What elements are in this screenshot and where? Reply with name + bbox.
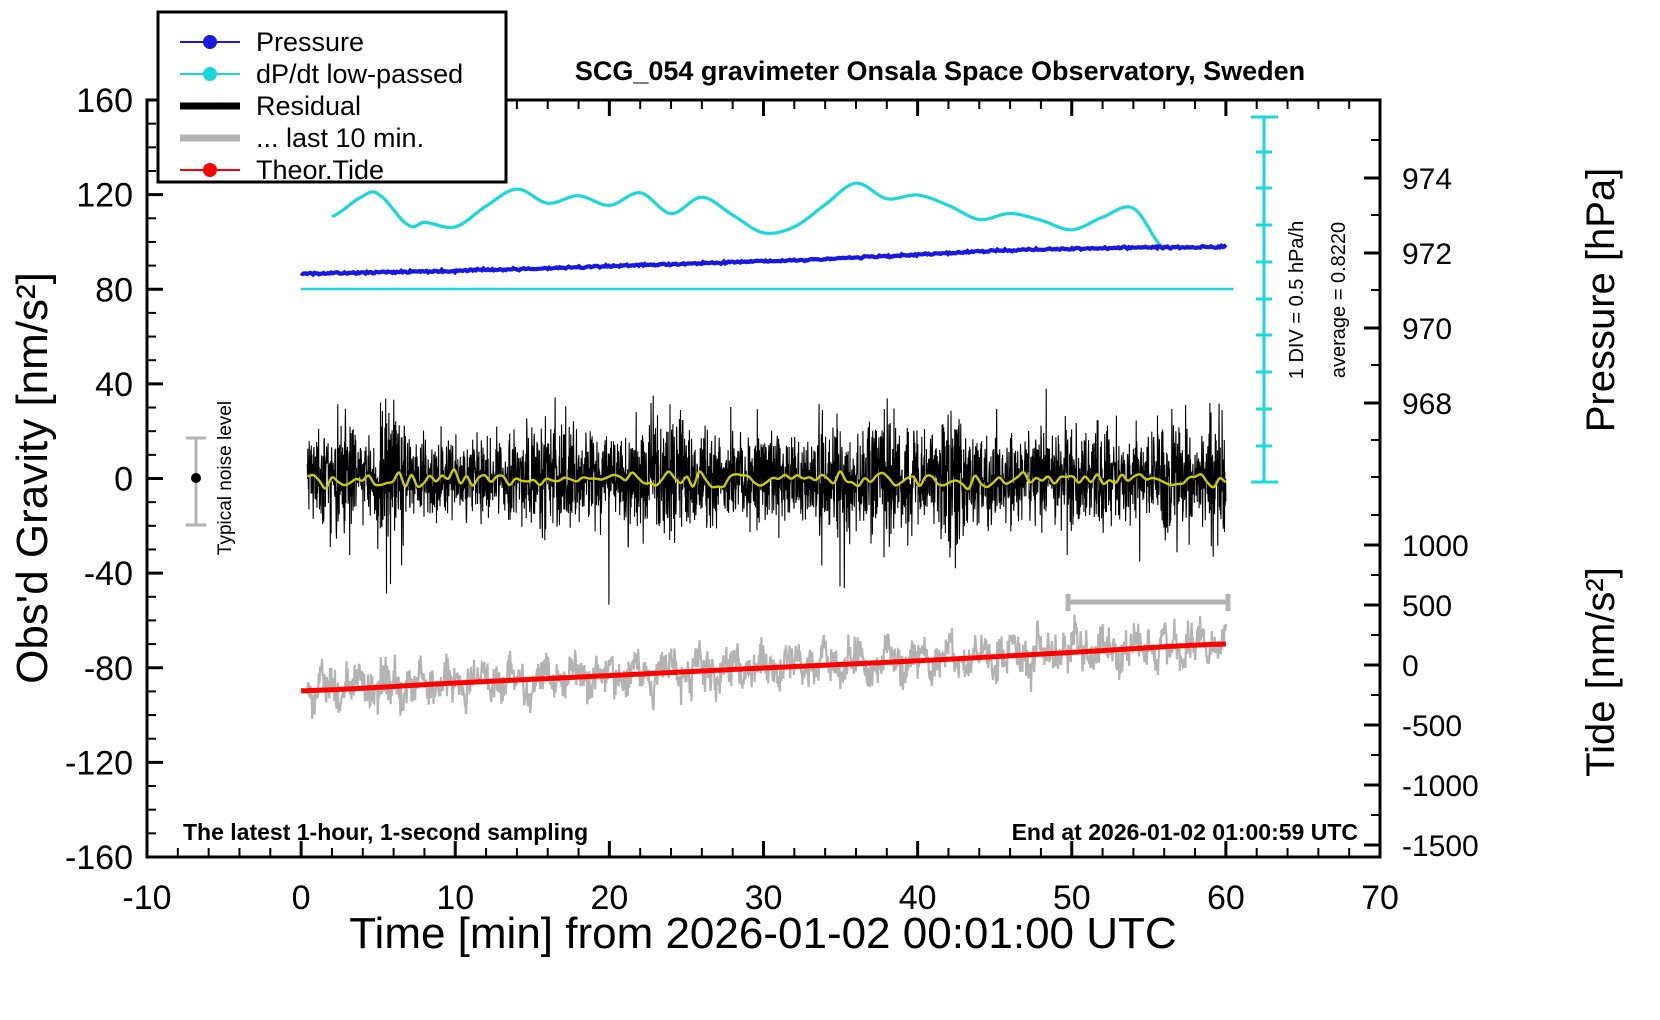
legend-label: dP/dt low-passed	[256, 59, 463, 89]
scale-bar-division-label: 1 DIV = 0.5 hPa/h	[1286, 221, 1308, 379]
y-right-top-tick-label: 968	[1402, 388, 1452, 421]
y-right-bottom-tick-label: -1000	[1402, 770, 1479, 803]
y-right-bottom-tick-label: 1000	[1402, 530, 1469, 563]
x-tick-label: 0	[292, 879, 311, 917]
y-left-tick-label: -40	[84, 555, 133, 593]
chart-canvas: Typical noise level 1 DIV = 0.5 hPa/h av…	[0, 0, 1660, 1020]
y-left-tick-label: 0	[114, 461, 133, 499]
y-left-tick-label: -120	[65, 744, 133, 782]
typical-noise-level-label: Typical noise level	[215, 401, 236, 555]
y-right-top-tick-label: 974	[1402, 163, 1452, 196]
y-left-tick-label: 80	[95, 271, 133, 309]
y-right-bottom-tick-label: 0	[1402, 650, 1419, 683]
y-right-bottom-tick-label: 500	[1402, 590, 1452, 623]
footer-end-timestamp: End at 2026-01-02 01:00:59 UTC	[1012, 819, 1358, 845]
y-left-tick-label: 160	[76, 82, 133, 120]
legend-marker-dot	[203, 67, 217, 81]
scale-bar-average-label: average = 0.8220	[1328, 222, 1350, 378]
legend-box[interactable]: PressuredP/dt low-passedResidual... last…	[158, 12, 506, 185]
x-tick-label: -10	[122, 879, 171, 917]
y-right-bottom-axis-title: Tide [nm/s²]	[1579, 567, 1623, 777]
x-axis-title: Time [min] from 2026-01-02 00:01:00 UTC	[349, 909, 1176, 958]
legend-label: ... last 10 min.	[256, 123, 424, 153]
legend-label: Theor.Tide	[256, 155, 384, 185]
chart-title: SCG_054 gravimeter Onsala Space Observat…	[575, 56, 1305, 86]
y-left-tick-label: -160	[65, 839, 133, 877]
y-right-bottom-tick-label: -500	[1402, 710, 1462, 743]
gravimeter-chart-figure: Typical noise level 1 DIV = 0.5 hPa/h av…	[0, 0, 1660, 1020]
legend-label: Residual	[256, 91, 361, 121]
y-left-tick-label: 40	[95, 366, 133, 404]
footer-sampling-note: The latest 1-hour, 1-second sampling	[183, 819, 588, 845]
legend-label: Pressure	[256, 27, 364, 57]
legend-marker-dot	[203, 163, 217, 177]
y-left-axis-title: Obs'd Gravity [nm/s²]	[8, 272, 57, 684]
x-tick-label: 70	[1361, 879, 1399, 917]
y-left-tick-label: 120	[76, 177, 133, 215]
legend-marker-dot	[203, 35, 217, 49]
y-right-bottom-tick-label: -1500	[1402, 830, 1479, 863]
y-right-top-tick-label: 970	[1402, 313, 1452, 346]
x-tick-label: 60	[1207, 879, 1245, 917]
y-right-top-axis-title: Pressure [hPa]	[1579, 168, 1623, 433]
y-left-tick-label: -80	[84, 650, 133, 688]
y-right-top-tick-label: 972	[1402, 238, 1452, 271]
noise-level-center-dot	[191, 473, 201, 483]
